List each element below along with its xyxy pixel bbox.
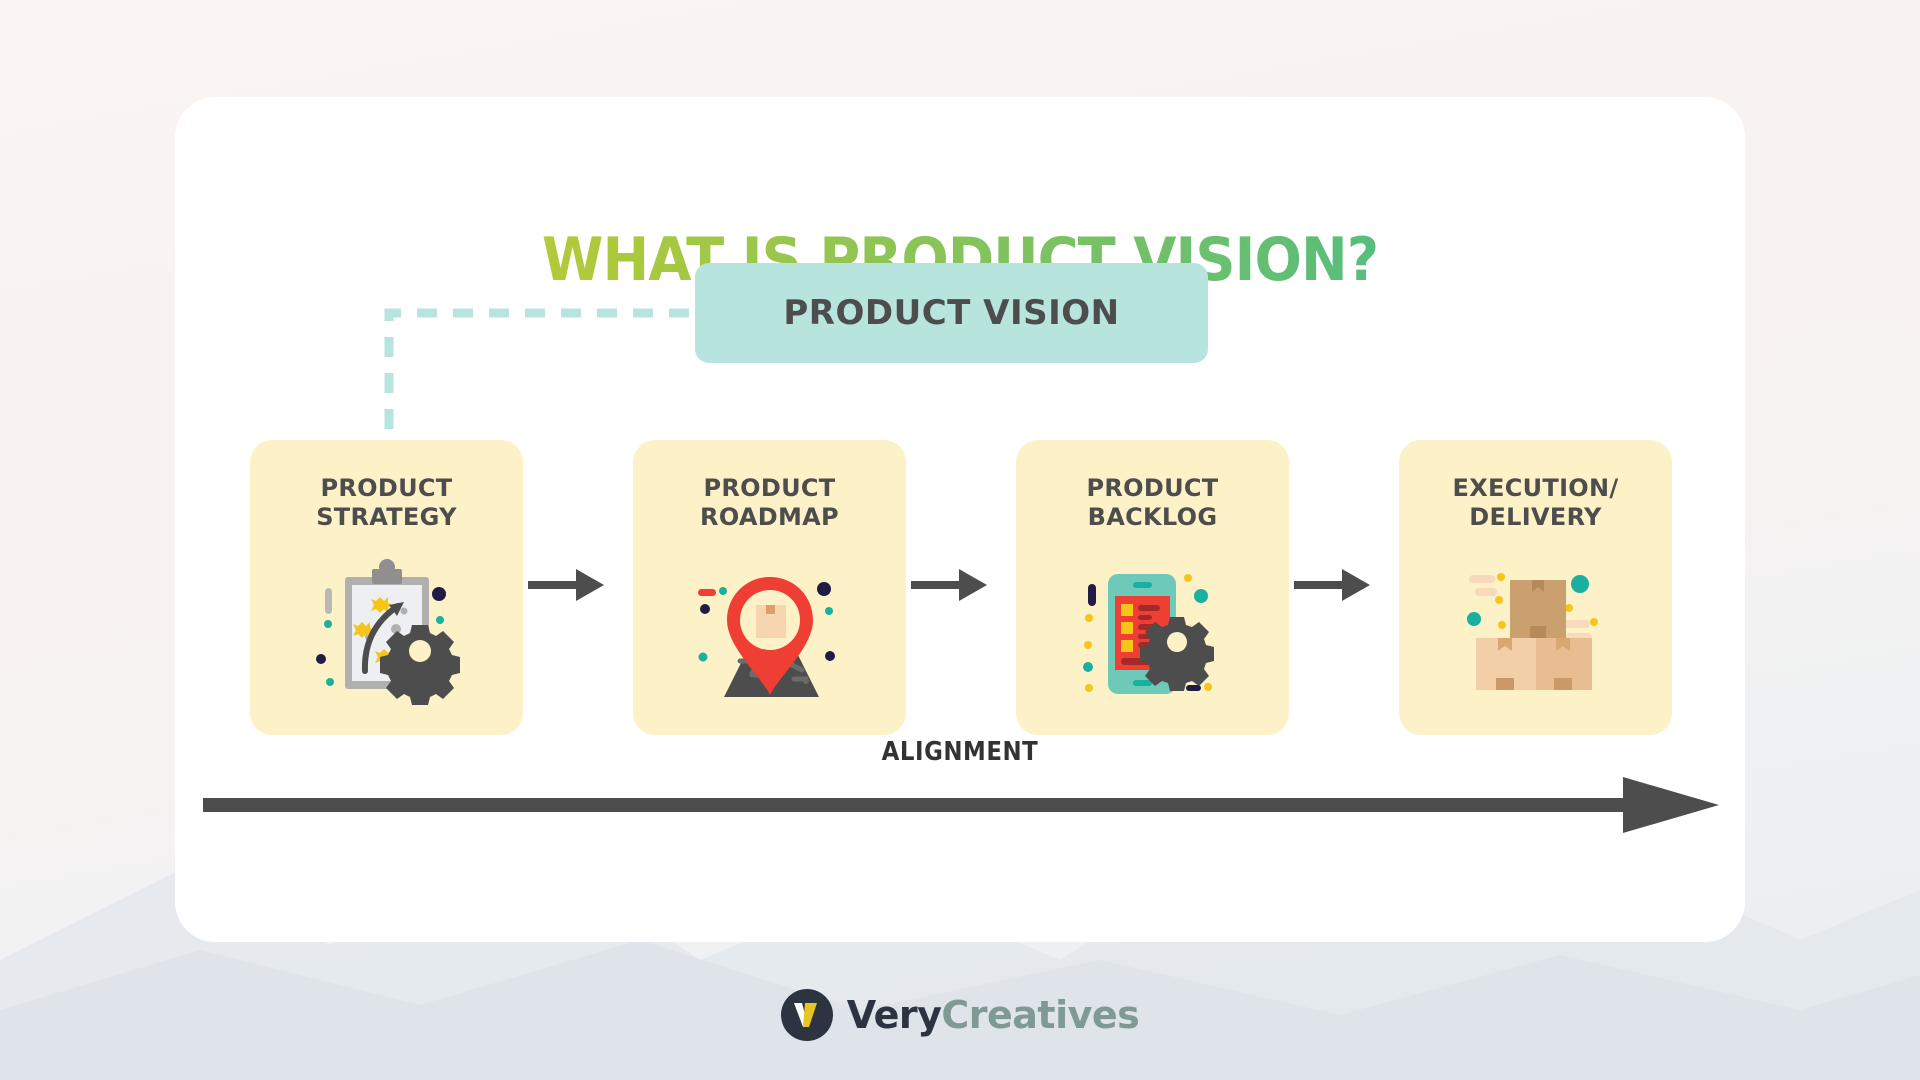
stage-connector-arrow-3 [1294,565,1374,605]
infographic-board: WHAT IS PRODUCT VISION? PRODUCT VISION P… [175,97,1745,942]
footer-brand: VeryCreatives [0,970,1920,1060]
stage-card-product-strategy[interactable]: PRODUCT STRATEGY [250,440,523,735]
brand-very: Very [847,993,942,1037]
mobile-checklist-gear-icon [1016,546,1289,722]
map-pin-icon [633,546,906,722]
stage-card-product-roadmap[interactable]: PRODUCT ROADMAP [633,440,906,735]
stage-card-execution-delivery[interactable]: EXECUTION/ DELIVERY [1399,440,1672,735]
v-circle-logo-icon [781,989,833,1041]
stage-connector-arrow-2 [911,565,991,605]
stage-label-execution-delivery: EXECUTION/ DELIVERY [1399,474,1672,533]
alignment-arrow [203,775,1723,835]
stage-label-product-backlog: PRODUCT BACKLOG [1016,474,1289,533]
product-vision-box[interactable]: PRODUCT VISION [695,263,1208,363]
stage-label-product-roadmap: PRODUCT ROADMAP [633,474,906,533]
brand-wordmark: VeryCreatives [847,993,1140,1037]
stage-card-product-backlog[interactable]: PRODUCT BACKLOG [1016,440,1289,735]
alignment-label: ALIGNMENT [269,737,1651,767]
stage-label-product-strategy: PRODUCT STRATEGY [250,474,523,533]
stacked-boxes-icon [1399,546,1672,722]
stage-connector-arrow-1 [528,565,608,605]
product-vision-label: PRODUCT VISION [783,293,1119,333]
clipboard-strategy-icon [250,546,523,722]
brand-creatives: Creatives [941,993,1139,1037]
